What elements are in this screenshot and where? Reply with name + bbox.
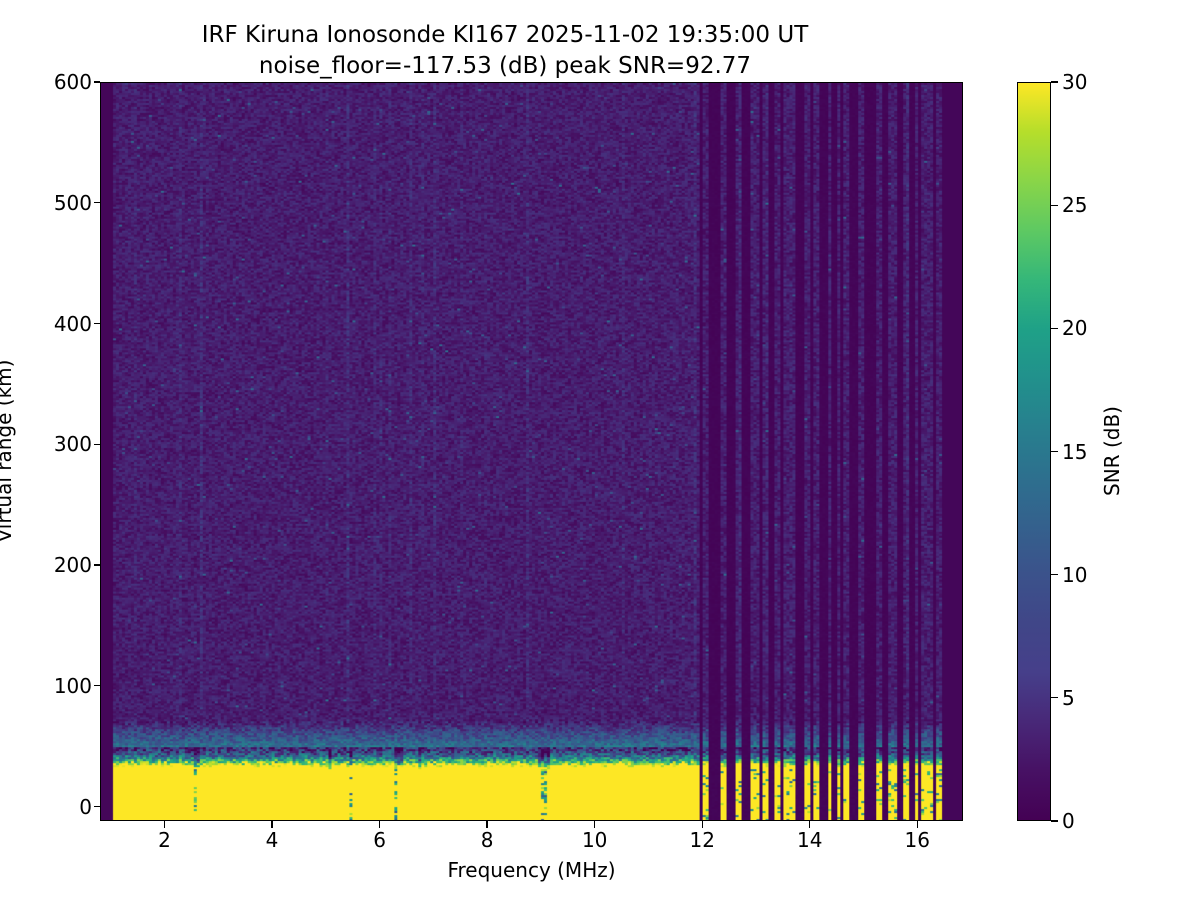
y-axis-tick-label: 400 [46, 312, 92, 336]
x-axis-tick-label: 16 [887, 828, 947, 852]
x-axis-tick-mark [917, 821, 918, 828]
y-axis-tick-mark [94, 806, 101, 807]
y-axis-tick-mark [94, 81, 101, 82]
y-axis-label: Virtual range (km) [0, 360, 16, 543]
colorbar-tick-mark [1051, 205, 1058, 206]
ionogram-heatmap-canvas[interactable] [101, 83, 962, 820]
x-axis-label: Frequency (MHz) [100, 858, 963, 882]
x-axis-tick-label: 4 [242, 828, 302, 852]
y-axis-tick-mark [94, 323, 101, 324]
colorbar-label: SNR (dB) [1100, 406, 1124, 496]
colorbar-tick-label: 0 [1062, 809, 1075, 833]
colorbar-tick-mark [1051, 820, 1058, 821]
colorbar-tick-label: 20 [1062, 316, 1087, 340]
x-axis-tick-label: 2 [135, 828, 195, 852]
colorbar-tick-label: 25 [1062, 193, 1087, 217]
x-axis-tick-label: 10 [565, 828, 625, 852]
x-axis-tick-mark [486, 821, 487, 828]
y-axis-tick-mark [94, 444, 101, 445]
colorbar-tick-mark [1051, 697, 1058, 698]
snr-colorbar[interactable] [1017, 82, 1051, 821]
x-axis-tick-label: 12 [672, 828, 732, 852]
ionogram-plot-area[interactable] [100, 82, 963, 821]
colorbar-tick-mark [1051, 574, 1058, 575]
y-axis-tick-mark [94, 685, 101, 686]
colorbar-tick-label: 15 [1062, 440, 1087, 464]
x-axis-tick-mark [594, 821, 595, 828]
colorbar-tick-mark [1051, 328, 1058, 329]
colorbar-tick-mark [1051, 81, 1058, 82]
ionogram-figure: IRF Kiruna Ionosonde KI167 2025-11-02 19… [0, 0, 1200, 900]
y-axis-tick-label: 100 [46, 674, 92, 698]
x-axis-tick-mark [379, 821, 380, 828]
figure-title: IRF Kiruna Ionosonde KI167 2025-11-02 19… [0, 20, 1010, 82]
y-axis-tick-label: 300 [46, 432, 92, 456]
y-axis-tick-mark [94, 564, 101, 565]
y-axis-tick-label: 600 [46, 70, 92, 94]
y-axis-tick-label: 0 [46, 795, 92, 819]
colorbar-tick-label: 5 [1062, 686, 1075, 710]
x-axis-tick-label: 8 [457, 828, 517, 852]
colorbar-tick-mark [1051, 451, 1058, 452]
x-axis-tick-label: 6 [350, 828, 410, 852]
x-axis-tick-mark [702, 821, 703, 828]
y-axis-tick-label: 500 [46, 191, 92, 215]
x-axis-tick-label: 14 [780, 828, 840, 852]
y-axis-tick-label: 200 [46, 553, 92, 577]
x-axis-tick-mark [164, 821, 165, 828]
y-axis-tick-mark [94, 202, 101, 203]
colorbar-tick-label: 10 [1062, 563, 1087, 587]
x-axis-tick-mark [271, 821, 272, 828]
colorbar-tick-label: 30 [1062, 70, 1087, 94]
x-axis-tick-mark [809, 821, 810, 828]
